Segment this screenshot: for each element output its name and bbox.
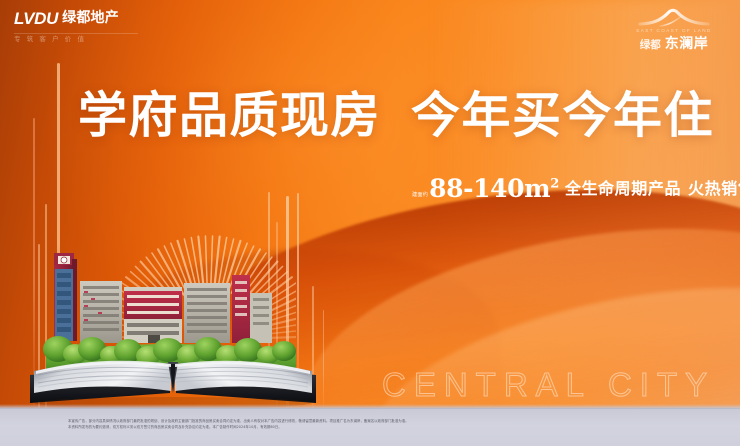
project-logo-brand: 绿都 (640, 39, 661, 51)
subheadline: 建面约 88-140m2 全生命周期产品火热销售 (412, 174, 740, 202)
brand-logo-chinese: 绿都地产 (62, 9, 119, 28)
central-city-wordmark: CENTRAL CITY (382, 366, 715, 404)
project-logo-donglanan: EAST COAST OF LAND 绿都东澜岸 (622, 7, 726, 51)
headline-part-1: 学府品质现房 (78, 86, 381, 144)
area-prefix-label: 建面约 (412, 192, 428, 202)
area-prefix-line: 建面约 (412, 192, 428, 198)
area-range: 88-140m2 (429, 175, 559, 202)
brand-logo-tagline: 专筑客户价值 (14, 33, 154, 43)
brand-logo-lockup: LVDU 绿都地产 (14, 9, 154, 28)
subheadline-description: 全生命周期产品火热销售 (565, 176, 740, 202)
promotional-poster: LVDU 绿都地产 专筑客户价值 EAST COAST OF LAND (0, 0, 740, 446)
brand-logo-lvdu: LVDU 绿都地产 专筑客户价值 (14, 9, 154, 47)
headline: 学府品质现房 今年买今年住 (78, 86, 718, 144)
status-label: 火热销售 (688, 179, 740, 198)
illustration-open-book-campus (28, 225, 318, 410)
product-label: 全生命周期产品 (565, 179, 681, 198)
project-logo-project: 东澜岸 (665, 36, 709, 52)
headline-part-2: 今年买今年住 (411, 86, 714, 144)
brand-logo-latin: LVDU (14, 9, 58, 28)
project-logo-english: EAST COAST OF LAND (622, 28, 726, 33)
legal-disclaimer-line-2: 本资料所发布的为要约邀请，双方权利义务以双方签订的商品房买卖合同及补充协议约定为… (68, 424, 678, 430)
area-range-value: 88-140m (429, 174, 550, 203)
legal-disclaimer: 本宣传广告，部分内容具体情况以政府部门最终批准的规划、设计及政府主管部门批准的商… (68, 418, 678, 431)
campus-buildings (54, 253, 272, 343)
area-unit-superscript: 2 (550, 177, 559, 192)
footer-disclaimer-band: 本宣传广告，部分内容具体情况以政府部门最终批准的规划、设计及政府主管部门批准的商… (0, 408, 740, 446)
project-logo-name: 绿都东澜岸 (622, 35, 726, 53)
open-book (30, 361, 316, 409)
brand-logo-divider (14, 33, 138, 34)
mountain-wave-icon (622, 7, 726, 27)
